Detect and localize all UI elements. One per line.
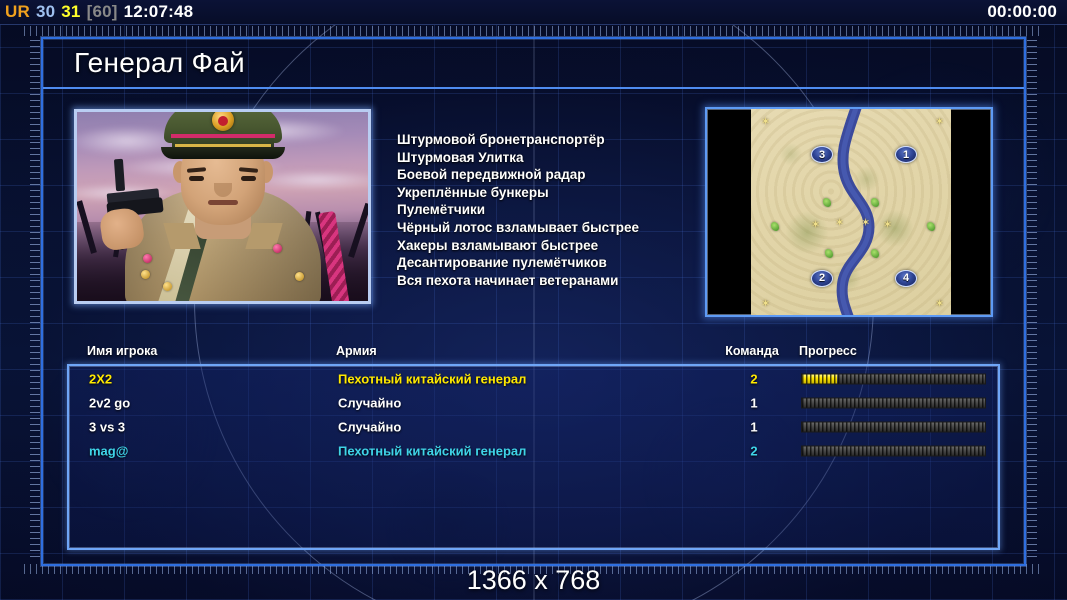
ruler-left-icon	[30, 40, 40, 560]
eye-right	[241, 176, 256, 181]
progress-bar	[801, 374, 986, 385]
table-row[interactable]: 2v2 goСлучайно1	[69, 391, 998, 415]
tech-building-marker-icon: ✶	[935, 299, 944, 310]
cap-insignia-star-icon	[218, 116, 228, 126]
medal-icon	[143, 254, 152, 263]
eye-left	[189, 176, 204, 181]
tech-building-marker-icon: ✶	[883, 220, 892, 231]
tech-building-marker-icon: ✶	[761, 117, 770, 128]
hud-topbar: UR 30 31 [60] 12:07:48 00:00:00	[0, 0, 1067, 25]
cap-brim	[161, 147, 285, 159]
tech-building-marker-icon: ✶	[835, 218, 844, 229]
header-progress: Прогресс	[799, 344, 857, 358]
cell-player-name: mag@	[89, 444, 128, 459]
map-preview: ✶✶✶✶✶✶✶✶3124	[705, 107, 993, 317]
cell-team: 2	[720, 372, 788, 387]
hud-fps-max: [60]	[87, 2, 118, 22]
tech-building-marker-icon: ✶	[761, 299, 770, 310]
supply-dock-marker-icon	[825, 249, 833, 258]
ability-item: Пулемётчики	[397, 201, 717, 219]
ability-item: Хакеры взламывают быстрее	[397, 237, 717, 255]
supply-dock-marker-icon	[771, 222, 779, 231]
ability-item: Штурмовой бронетранспортёр	[397, 131, 717, 149]
ruler-right-icon	[1027, 40, 1037, 560]
table-row[interactable]: 2X2Пехотный китайский генерал2	[69, 367, 998, 391]
header-player-name: Имя игрока	[87, 344, 157, 358]
hud-match-timer: 00:00:00	[987, 2, 1057, 21]
cell-army: Пехотный китайский генерал	[338, 372, 526, 387]
hud-stats-group: UR 30 31 [60] 12:07:48	[0, 2, 193, 22]
cell-team: 1	[720, 396, 788, 411]
cell-team: 1	[720, 420, 788, 435]
medal-icon	[273, 244, 282, 253]
resolution-label: 1366 x 768	[0, 565, 1067, 596]
supply-dock-marker-icon	[871, 198, 879, 207]
ability-item: Десантирование пулемётчиков	[397, 254, 717, 272]
table-row[interactable]: 3 vs 3Случайно1	[69, 415, 998, 439]
cell-team: 2	[720, 444, 788, 459]
general-portrait	[74, 109, 371, 304]
hud-clock: 12:07:48	[124, 2, 194, 22]
progress-bar	[801, 398, 986, 409]
ability-item: Чёрный лотос взламывает быстрее	[397, 219, 717, 237]
general-abilities-list: Штурмовой бронетранспортёр Штурмовая Ули…	[397, 131, 717, 289]
hud-fps-secondary: 31	[61, 2, 80, 22]
cell-player-name: 3 vs 3	[89, 420, 125, 435]
hud-fps-current: 30	[36, 2, 55, 22]
title-bar: Генерал Фай	[43, 39, 1024, 89]
supply-dock-marker-icon	[927, 222, 935, 231]
ability-item: Штурмовая Улитка	[397, 149, 717, 167]
cell-player-name: 2X2	[89, 372, 112, 387]
map-terrain: ✶✶✶✶✶✶✶✶3124	[751, 109, 951, 315]
loading-screen: UR 30 31 [60] 12:07:48 00:00:00 Генерал …	[0, 0, 1067, 600]
header-team: Команда	[718, 344, 786, 358]
cell-army: Случайно	[338, 420, 401, 435]
progress-bar	[801, 446, 986, 457]
start-position-marker[interactable]: 1	[895, 146, 917, 163]
supply-dock-marker-icon	[823, 198, 831, 207]
hud-ur-label: UR	[5, 2, 30, 22]
ruler-top-icon	[24, 26, 1043, 36]
progress-bar-fill	[802, 375, 837, 384]
tech-building-marker-icon: ✶	[861, 218, 870, 229]
medal-icon	[295, 272, 304, 281]
start-position-marker[interactable]: 4	[895, 270, 917, 287]
ability-item: Боевой передвижной радар	[397, 166, 717, 184]
progress-bar	[801, 422, 986, 433]
ability-item: Укреплённые бункеры	[397, 184, 717, 202]
table-row[interactable]: mag@Пехотный китайский генерал2	[69, 439, 998, 463]
cell-army: Случайно	[338, 396, 401, 411]
player-table-header: Имя игрока Армия Команда Прогресс	[43, 344, 1024, 366]
player-list-panel: 2X2Пехотный китайский генерал22v2 goСлуч…	[67, 364, 1000, 550]
header-army: Армия	[336, 344, 377, 358]
page-title: Генерал Фай	[43, 47, 245, 79]
tech-building-marker-icon: ✶	[811, 220, 820, 231]
mouth	[208, 200, 238, 205]
cell-player-name: 2v2 go	[89, 396, 130, 411]
hud-timer-group: 00:00:00	[987, 2, 1067, 22]
cell-army: Пехотный китайский генерал	[338, 444, 526, 459]
tech-building-marker-icon: ✶	[935, 117, 944, 128]
info-row: Штурмовой бронетранспортёр Штурмовая Ули…	[43, 91, 1024, 343]
medal-icon	[163, 282, 172, 291]
supply-dock-marker-icon	[871, 249, 879, 258]
start-position-marker[interactable]: 2	[811, 270, 833, 287]
ability-item: Вся пехота начинает ветеранами	[397, 272, 717, 290]
start-position-marker[interactable]: 3	[811, 146, 833, 163]
river-icon	[751, 109, 951, 315]
main-panel: Генерал Фай	[41, 37, 1026, 566]
medal-icon	[141, 270, 150, 279]
